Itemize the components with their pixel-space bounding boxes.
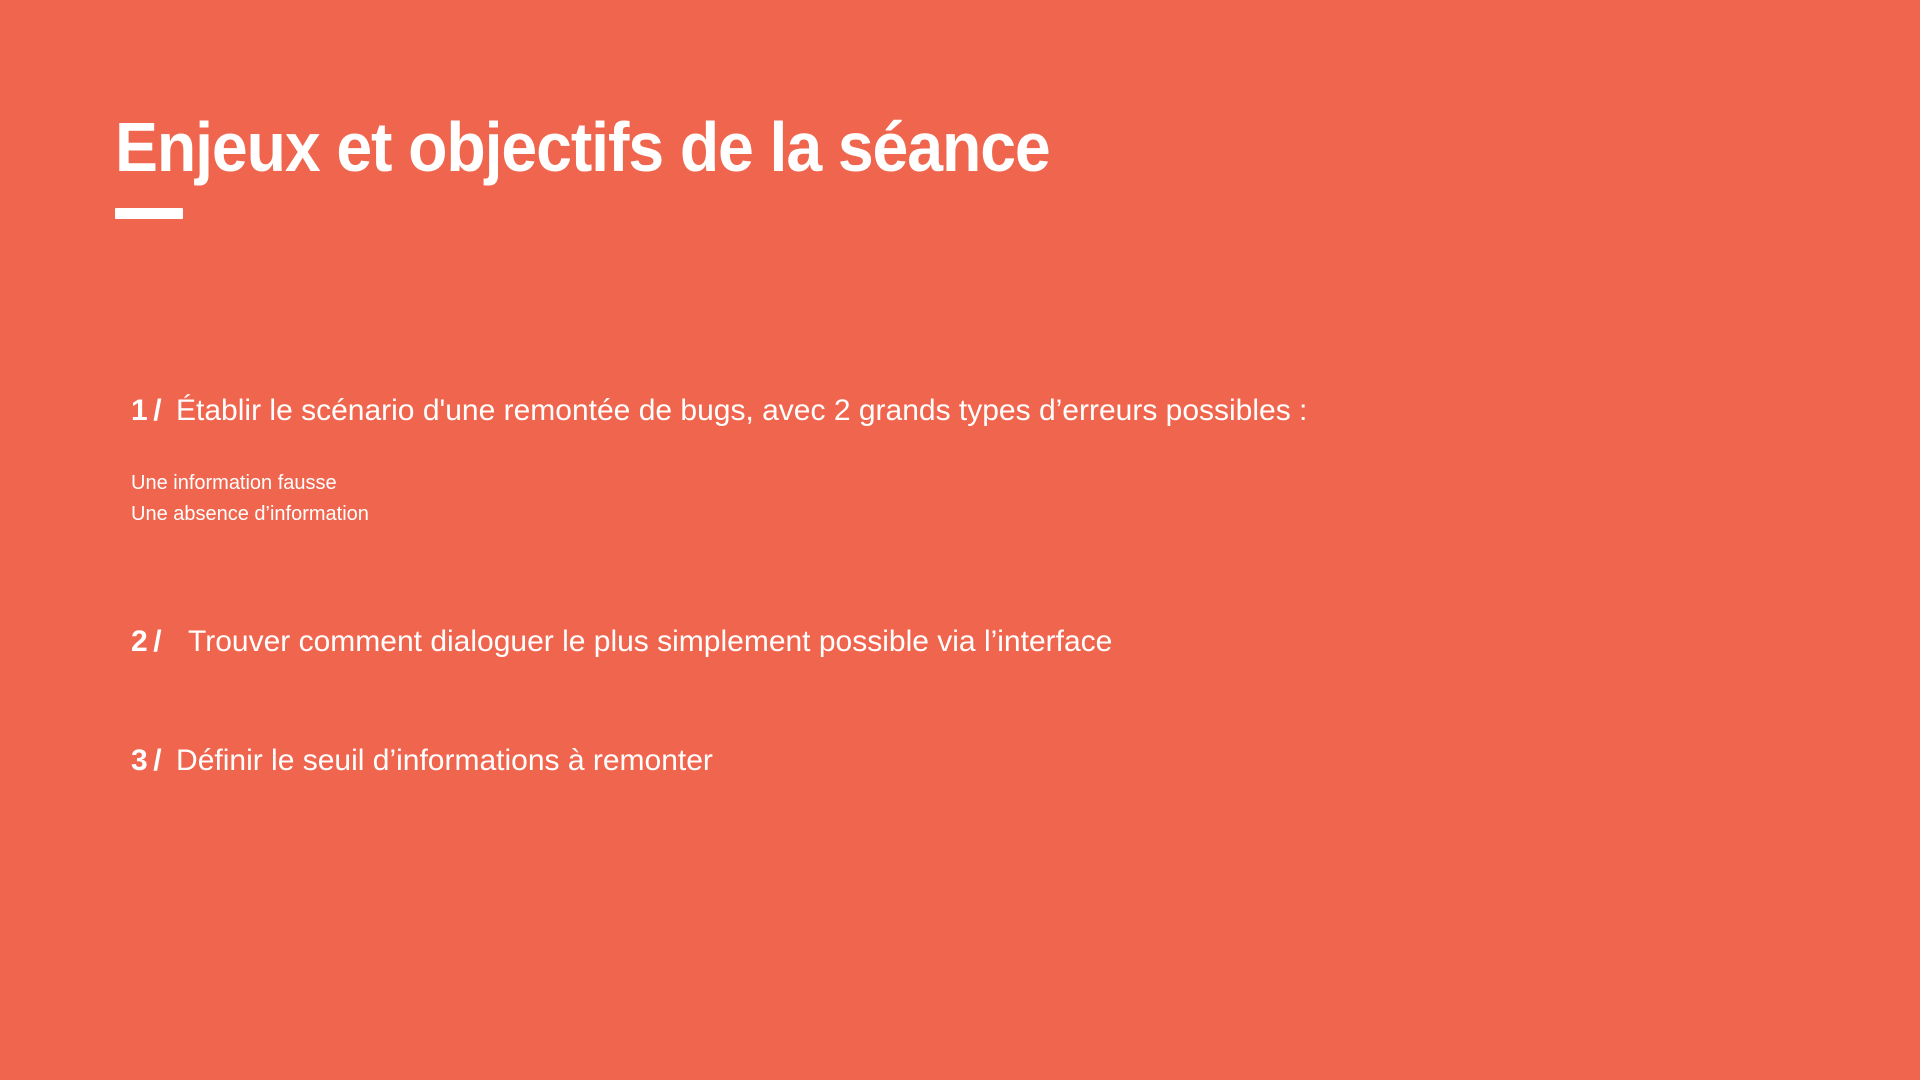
objective-marker-2: 2/ xyxy=(131,623,162,661)
objective-text-2: Trouver comment dialoguer le plus simple… xyxy=(188,623,1112,661)
objectives-list: 1/ Établir le scénario d'une remontée de… xyxy=(131,392,1691,780)
spacer-after-objective-1 xyxy=(131,531,1691,623)
title-block: Enjeux et objectifs de la séance xyxy=(115,112,1131,219)
objective-slash-1: / xyxy=(153,394,162,427)
objective-slash-2: / xyxy=(153,625,162,658)
objective-text-1: Établir le scénario d'une remontée de bu… xyxy=(176,392,1307,430)
objective-marker-3: 3/ xyxy=(131,742,162,780)
objective-marker-1: 1/ xyxy=(131,392,162,430)
objective-number-3: 3 xyxy=(131,744,148,777)
objective-1-subitem-1: Une information fausse xyxy=(131,468,1691,500)
objective-item-1: 1/ Établir le scénario d'une remontée de… xyxy=(131,392,1691,430)
objective-number-2: 2 xyxy=(131,625,148,658)
objective-1-subitem-2: Une absence d’information xyxy=(131,499,1691,531)
title-underline-rule xyxy=(115,208,183,219)
presentation-slide: Enjeux et objectifs de la séance 1/ Étab… xyxy=(0,0,1920,1080)
objective-item-3: 3/ Définir le seuil d’informations à rem… xyxy=(131,742,1691,780)
objective-item-2: 2/ Trouver comment dialoguer le plus sim… xyxy=(131,623,1691,661)
spacer-after-objective-2 xyxy=(131,660,1691,742)
objective-text-3: Définir le seuil d’informations à remont… xyxy=(176,742,713,780)
objective-number-1: 1 xyxy=(131,394,148,427)
page-title: Enjeux et objectifs de la séance xyxy=(115,112,1050,182)
objective-slash-3: / xyxy=(153,744,162,777)
objective-1-sublist: Une information fausse Une absence d’inf… xyxy=(131,468,1691,531)
